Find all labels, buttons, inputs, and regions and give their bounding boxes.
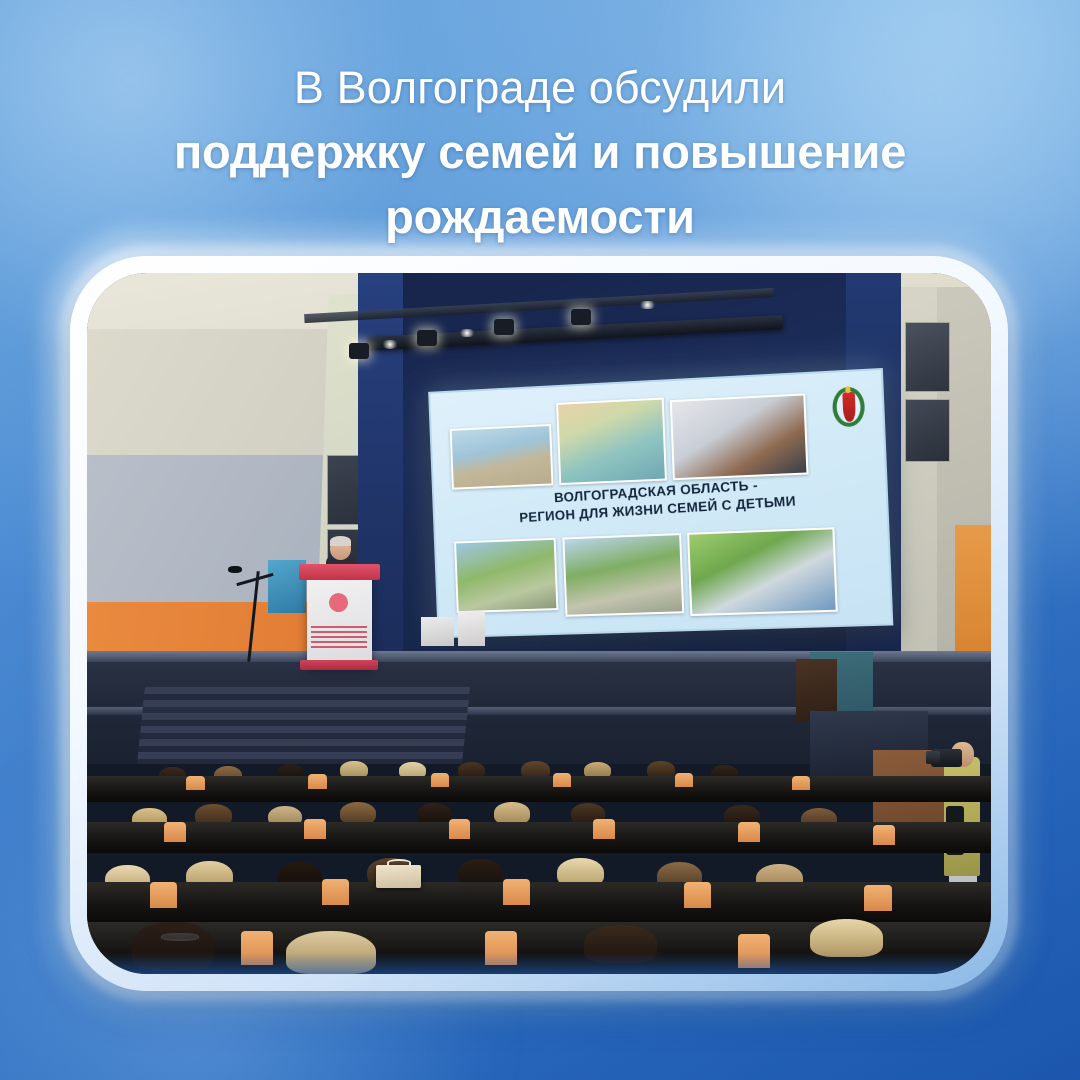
- seat-row: [87, 776, 991, 802]
- seat-row: [87, 822, 991, 854]
- headline: В Волгограде обсудили поддержку семей и …: [0, 62, 1080, 244]
- seat-armrest: [322, 879, 349, 905]
- photo-frame-wrapper: ВОЛГОГРАДСКАЯ ОБЛАСТЬ - РЕГИОН ДЛЯ ЖИЗНИ…: [70, 256, 1008, 991]
- podium-top-rail: [299, 564, 380, 580]
- seat-armrest: [792, 776, 810, 790]
- seat-armrest: [553, 773, 571, 787]
- seat-armrest: [186, 776, 204, 790]
- right-window-lower: [905, 399, 950, 462]
- podium-base: [300, 660, 378, 671]
- spotlight-icon: [349, 343, 369, 358]
- stage-white-block: [458, 611, 485, 646]
- slide-photo: [687, 526, 837, 615]
- seat-armrest: [675, 773, 693, 787]
- audience: [87, 687, 991, 974]
- slide-content: ВОЛГОГРАДСКАЯ ОБЛАСТЬ - РЕГИОН ДЛЯ ЖИЗНИ…: [435, 375, 885, 631]
- seat-armrest: [593, 819, 615, 839]
- photo-bottom-fade: [87, 953, 991, 974]
- microphone-icon: [228, 566, 242, 573]
- right-wall-orange-strip: [955, 525, 991, 665]
- eyeglasses-icon: [161, 933, 199, 940]
- seat-armrest: [873, 825, 895, 845]
- slide-photo: [450, 424, 554, 489]
- seat-armrest: [503, 879, 530, 905]
- spotlight-glow: [381, 340, 399, 348]
- auditorium-scene: ВОЛГОГРАДСКАЯ ОБЛАСТЬ - РЕГИОН ДЛЯ ЖИЗНИ…: [87, 273, 991, 974]
- seat-armrest: [431, 773, 449, 787]
- podium-emblem-icon: [323, 591, 354, 620]
- gift-bag: [376, 865, 421, 888]
- event-photo: ВОЛГОГРАДСКАЯ ОБЛАСТЬ - РЕГИОН ДЛЯ ЖИЗНИ…: [87, 273, 991, 974]
- seat-armrest: [304, 819, 326, 839]
- seat-row: [87, 882, 991, 922]
- slide-photo: [669, 393, 808, 480]
- spotlight-icon: [494, 319, 514, 334]
- seat-armrest: [684, 882, 711, 908]
- seat-armrest: [308, 774, 326, 788]
- seat-armrest: [449, 819, 471, 839]
- slide-photo: [454, 537, 558, 613]
- headline-line-2: поддержку семей и повышение: [58, 125, 1022, 180]
- audience-head-front: [810, 919, 882, 956]
- stage-white-block: [421, 617, 454, 646]
- social-card: В Волгограде обсудили поддержку семей и …: [0, 0, 1080, 1080]
- headline-line-1: В Волгограде обсудили: [58, 62, 1022, 114]
- slide-photo-row-top: [449, 389, 812, 489]
- photo-frame: ВОЛГОГРАДСКАЯ ОБЛАСТЬ - РЕГИОН ДЛЯ ЖИЗНИ…: [70, 256, 1008, 991]
- right-window-upper: [905, 322, 950, 392]
- seat-armrest: [164, 822, 186, 842]
- seat-armrest: [150, 882, 177, 908]
- headline-line-3: рождаемости: [58, 190, 1022, 245]
- spotlight-icon: [417, 330, 437, 345]
- seat-armrest: [864, 885, 891, 911]
- seat-armrest: [738, 822, 760, 842]
- slide-photo-row-bottom: [454, 526, 844, 622]
- slide-photo: [556, 397, 667, 485]
- podium-text-block: [311, 626, 367, 650]
- coat-of-arms-icon: [832, 383, 866, 433]
- projection-screen: ВОЛГОГРАДСКАЯ ОБЛАСТЬ - РЕГИОН ДЛЯ ЖИЗНИ…: [428, 368, 893, 639]
- slide-photo: [562, 532, 685, 616]
- speaker-hair: [330, 536, 351, 547]
- gift-bag-handle: [387, 859, 411, 866]
- spotlight-icon: [571, 309, 591, 324]
